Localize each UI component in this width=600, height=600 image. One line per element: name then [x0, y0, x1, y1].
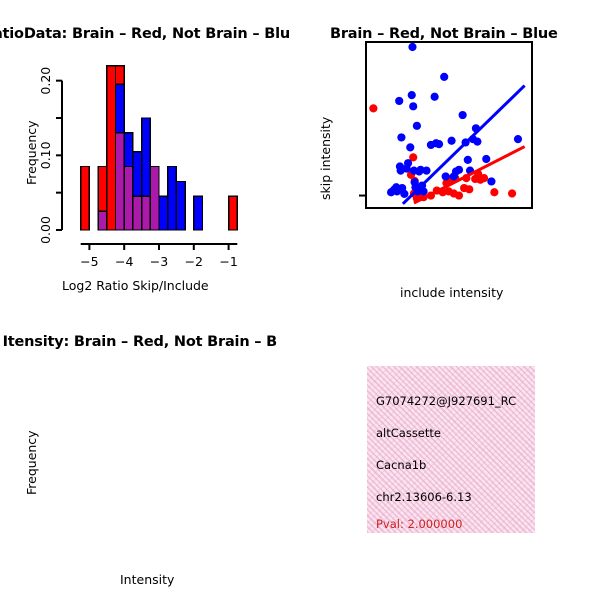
- histogram-bar: [229, 196, 238, 230]
- figure-canvas: RatioData: Brain – Red, Not Brain – Blu …: [0, 0, 600, 600]
- scatter-point: [409, 102, 417, 110]
- x-tick-label: −5: [80, 254, 98, 269]
- y-tick-label: 0.20: [38, 67, 53, 95]
- regression-line: [414, 147, 525, 203]
- histogram-bar: [124, 167, 133, 230]
- x-tick-label: −2: [185, 254, 203, 269]
- scatter-point: [406, 143, 414, 151]
- scatter-point: [422, 167, 430, 175]
- x-tick-label: −4: [115, 254, 133, 269]
- scatter-point: [400, 190, 408, 198]
- scatter-point: [459, 111, 467, 119]
- scatter-point: [435, 140, 443, 148]
- scatter-point: [395, 97, 403, 105]
- info-locus: chr2.13606-6.13: [376, 490, 472, 504]
- scatter-point: [508, 189, 516, 197]
- histogram-bar: [98, 211, 107, 230]
- scatter-point: [490, 188, 498, 196]
- histogram-bar: [133, 196, 142, 230]
- scatter-point: [480, 174, 488, 182]
- info-panel: G7074272@J927691_RC altCassette Cacna1b …: [367, 366, 535, 533]
- info-pval: Pval: 2.000000: [376, 517, 462, 531]
- scatter-point: [440, 73, 448, 81]
- scatter-point: [514, 135, 522, 143]
- scatter-point: [413, 122, 421, 130]
- histogram-bar: [81, 167, 90, 230]
- x-tick-label: −3: [150, 254, 168, 269]
- y-tick-label: 0.00: [38, 216, 53, 244]
- scatter-point: [408, 91, 416, 99]
- scatter-point: [397, 133, 405, 141]
- scatter-point: [487, 177, 495, 185]
- scatter-point: [482, 155, 490, 163]
- histogram-bar: [168, 167, 177, 230]
- scatter-point: [447, 137, 455, 145]
- scatter-point: [404, 159, 412, 167]
- scatter-point: [465, 185, 473, 193]
- y-tick-label: 0.10: [38, 141, 53, 169]
- scatter-point: [455, 166, 463, 174]
- scatter-point: [442, 172, 450, 180]
- histogram-bar: [159, 196, 168, 230]
- panel-intensity-histogram: ne Itensity: Brain – Red, Not Brain – B …: [0, 310, 300, 600]
- histogram-bar: [176, 181, 185, 230]
- scatter-point: [455, 191, 463, 199]
- scatter-point: [473, 138, 481, 146]
- info-gene-symbol: Cacna1b: [376, 458, 426, 472]
- panel-ratio-histogram: RatioData: Brain – Red, Not Brain – Blu …: [0, 0, 300, 310]
- histogram-bar: [194, 196, 203, 230]
- info-event-type: altCassette: [376, 426, 441, 440]
- histogram-bar: [116, 133, 125, 230]
- panel-scatter: Brain – Red, Not Brain – Blue skip inten…: [300, 0, 600, 310]
- scatter-plot: [300, 30, 600, 310]
- histogram-bar: [142, 196, 151, 230]
- scatter-point: [464, 156, 472, 164]
- ratio-histogram-plot: 0.000.100.20−5−4−3−2−1: [0, 40, 300, 310]
- intensity-histogram-plot: [0, 345, 300, 600]
- info-probe-id: G7074272@J927691_RC: [376, 394, 516, 408]
- scatter-point: [431, 93, 439, 101]
- histogram-bar: [107, 66, 116, 230]
- info-panel-hatch-background: [367, 366, 535, 533]
- scatter-point: [369, 104, 377, 112]
- x-tick-label: −1: [219, 254, 237, 269]
- scatter-data-layer: [369, 43, 524, 204]
- scatter-point: [408, 43, 416, 51]
- histogram-bar: [150, 167, 159, 230]
